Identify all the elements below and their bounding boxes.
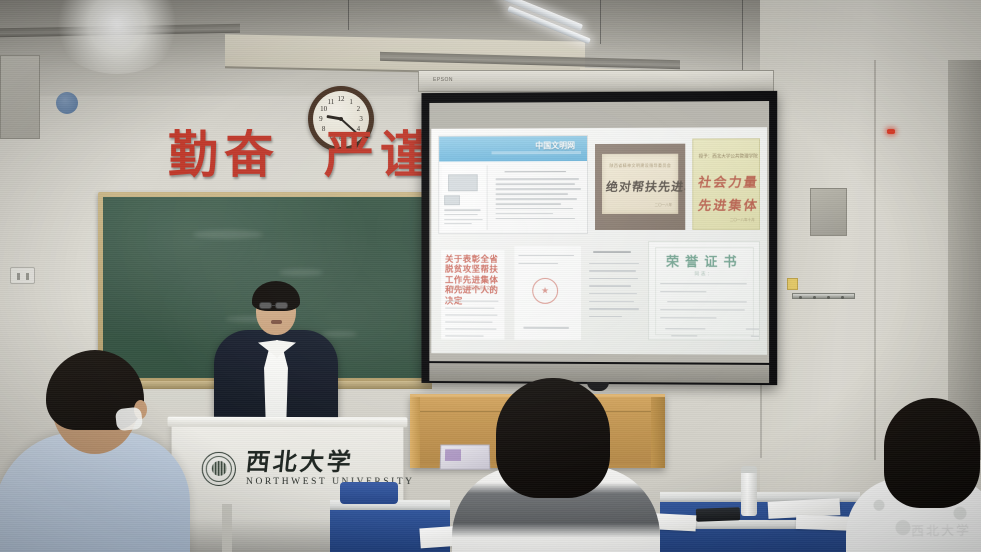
slide-webpage-screenshot: 中国文明网 (438, 135, 588, 234)
hanging-wire (742, 0, 743, 70)
clock-numeral: 1 (349, 98, 353, 106)
chair-back (340, 482, 398, 504)
projection-screen-surface: 中国文明网 (429, 101, 769, 363)
plaque-yellow-signature: 二〇一八年十月 (730, 217, 755, 222)
plaque-subtitle: 陕西省精神文明建设指导委员会 (609, 162, 670, 168)
indicator-light-icon (887, 129, 895, 134)
projection-screen: 中国文明网 (421, 91, 777, 385)
plaque-yellow-line2: 先进集体 (697, 195, 755, 214)
clock-numeral: 2 (357, 105, 361, 113)
official-seal-icon: ★ (532, 278, 558, 304)
wall-slogan: 勤奋 严谨 (168, 130, 436, 180)
presentation-slide: 中国文明网 (431, 127, 767, 355)
clock-numeral: 9 (319, 115, 323, 123)
university-name-chinese: 西北大学 (245, 450, 416, 474)
slide-text-column (588, 246, 642, 341)
plaque-yellow-line1: 社会力量帮扶 (697, 172, 755, 191)
projector-brand-label: EPSON (433, 77, 453, 83)
clock-numeral: 12 (338, 95, 345, 103)
plaque-signature: 二〇一八年 (655, 203, 673, 208)
webpage-header-banner: 中国文明网 (439, 136, 587, 162)
wall-rail (792, 293, 855, 299)
webpage-thumbnail (448, 174, 477, 191)
hanging-wire (600, 0, 601, 44)
projector-screen-housing[interactable]: EPSON (418, 70, 774, 92)
clock-numeral: 3 (359, 115, 363, 123)
slogan-word-2: 严谨 (324, 130, 436, 180)
lecture-hall-photo: 12 1 2 3 4 5 6 7 8 9 10 11 勤奋 严谨 (0, 0, 981, 552)
audience-center-hair (496, 378, 610, 498)
document-subtitle: 陕西省人民政府 文件 (448, 286, 498, 294)
wall-corner (948, 60, 981, 460)
speaker-mouth (271, 320, 282, 324)
mobile-phone[interactable] (696, 507, 740, 522)
desk-edge-right (651, 397, 665, 468)
webpage-article-column (492, 167, 582, 229)
speaker-glasses-right-lens (275, 302, 288, 309)
screen-bottom-bar (429, 363, 769, 383)
webpage-thumbnail (445, 195, 460, 205)
plaque-main-text: 绝对帮扶先进单位 (605, 178, 674, 195)
laptop-sticker (445, 449, 461, 461)
hanging-wire (348, 0, 349, 30)
chalk-smudge (279, 269, 323, 276)
wall-seam (874, 60, 876, 460)
audience-right-hair (884, 398, 980, 508)
thermos-bottle[interactable] (741, 470, 757, 516)
thermos-cap (741, 466, 757, 473)
wall-sensor (56, 92, 78, 114)
laptop[interactable] (440, 445, 491, 470)
speaker-glasses-left-lens (259, 302, 272, 309)
clock-numeral: 11 (328, 98, 335, 106)
lectern-leg (222, 504, 232, 552)
slide-certificate: 荣誉证书 同志： (648, 241, 760, 341)
certificate-subtitle: 同志： (649, 271, 759, 277)
wall-label (787, 278, 798, 290)
webpage-title: 中国文明网 (535, 140, 575, 151)
plaque-surface: 陕西省精神文明建设指导委员会 绝对帮扶先进单位 二〇一八年 (602, 154, 678, 214)
slide-plaque-yellow: 授予：西北大学公共管理学院 社会力量帮扶 先进集体 二〇一八年十月 (692, 139, 760, 230)
webpage-left-column (442, 165, 488, 230)
lectern-top-surface (168, 417, 408, 428)
chalk-smudge (321, 331, 357, 337)
clock-center-pin (339, 117, 343, 121)
power-outlet[interactable] (10, 267, 35, 284)
speaker-glasses-bridge (272, 305, 276, 306)
document-heading: 关于表彰全省脱贫攻坚帮扶工作先进集体和先进个人的决定 (445, 254, 501, 307)
certificate-title: 荣誉证书 (649, 251, 759, 270)
chalk-smudge (193, 230, 263, 239)
clock-numeral: 10 (320, 105, 327, 113)
audience-front-left-mask (115, 407, 143, 432)
slogan-word-1: 勤奋 (168, 130, 280, 180)
university-seal-icon (202, 451, 236, 485)
wall-control-box[interactable] (810, 188, 847, 236)
plaque-yellow-header: 授予：西北大学公共管理学院 (699, 154, 754, 160)
photo-watermark: 西北大学 (911, 518, 971, 538)
webpage-nav-bar (492, 151, 581, 154)
slide-plaque-brown: 陕西省精神文明建设指导委员会 绝对帮扶先进单位 二〇一八年 (595, 143, 686, 229)
slide-document-red-header: 关于表彰全省脱贫攻坚帮扶工作先进集体和先进个人的决定 陕西省人民政府 文件 (441, 250, 504, 340)
slide-document-with-seal: ★ (514, 245, 581, 340)
wall-panel (0, 55, 40, 139)
seal-star-icon: ★ (541, 285, 549, 296)
